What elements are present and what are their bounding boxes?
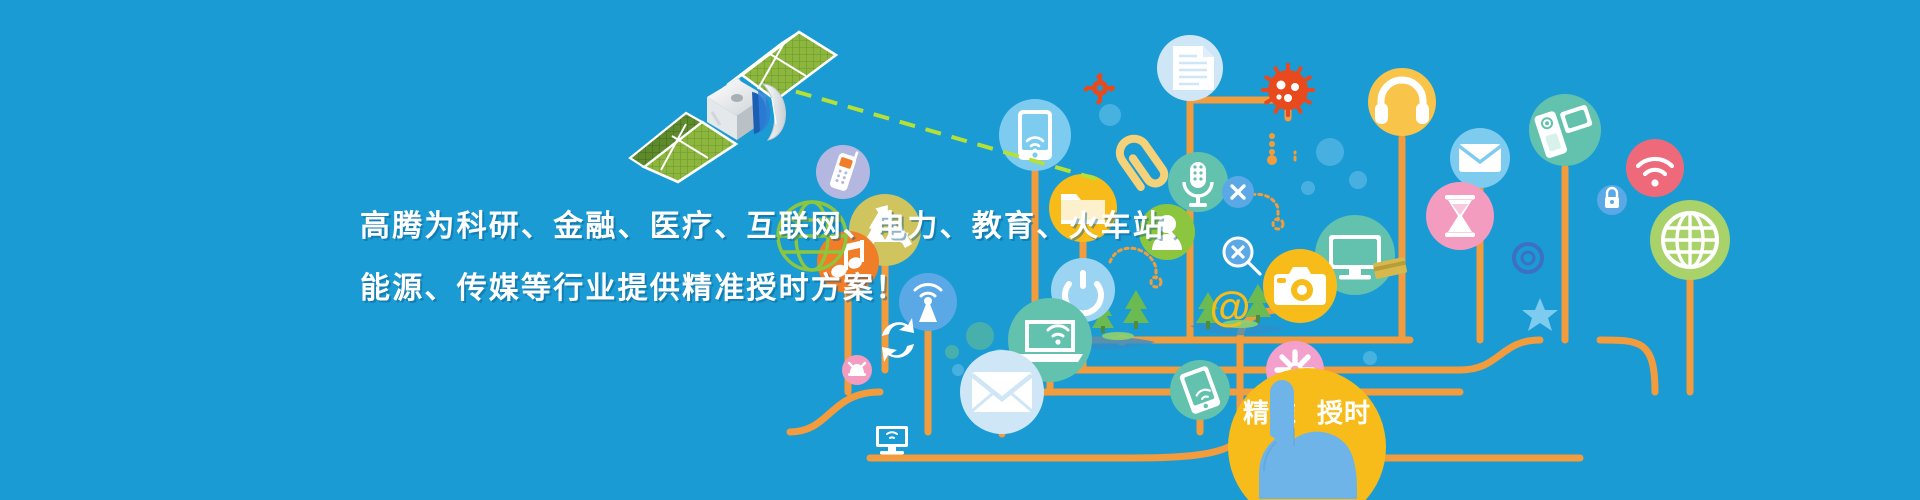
document-icon xyxy=(1157,35,1223,101)
search-x-icon xyxy=(1224,238,1260,274)
camera-icon xyxy=(1263,249,1337,323)
star-icon xyxy=(1522,298,1558,331)
lock-icon xyxy=(1597,185,1627,215)
globe-green-icon xyxy=(1650,200,1730,280)
alarm-pink-icon xyxy=(842,355,872,385)
user-icon xyxy=(1139,204,1195,260)
broadcast-icon xyxy=(899,273,957,331)
envelope-top-icon xyxy=(1450,128,1510,188)
hero-banner: 高腾为科研、金融、医疗、互联网、电力、教育、火车站、 能源、传媒等行业提供精准授… xyxy=(0,0,1920,500)
tablet-signal-icon xyxy=(1170,360,1230,420)
virus-gear-icon xyxy=(1261,63,1315,117)
svg-text:@: @ xyxy=(1210,283,1251,330)
envelope-big-icon xyxy=(960,350,1044,434)
ring-icon xyxy=(1514,244,1542,272)
satellite-graphic xyxy=(624,12,854,182)
pointing-hand xyxy=(1230,380,1390,500)
close-icon xyxy=(1222,176,1254,208)
microphone-icon xyxy=(1168,152,1228,212)
paperclip-icon xyxy=(1114,133,1167,192)
monitor-small-icon xyxy=(876,426,908,455)
headphones-icon xyxy=(1368,68,1436,136)
hourglass-icon xyxy=(1426,182,1494,250)
smartphone-icon xyxy=(1529,94,1601,166)
globe-wire-icon xyxy=(778,202,846,270)
at-sign-icon: @ xyxy=(1210,283,1251,330)
wifi-pink-icon xyxy=(1626,139,1684,197)
